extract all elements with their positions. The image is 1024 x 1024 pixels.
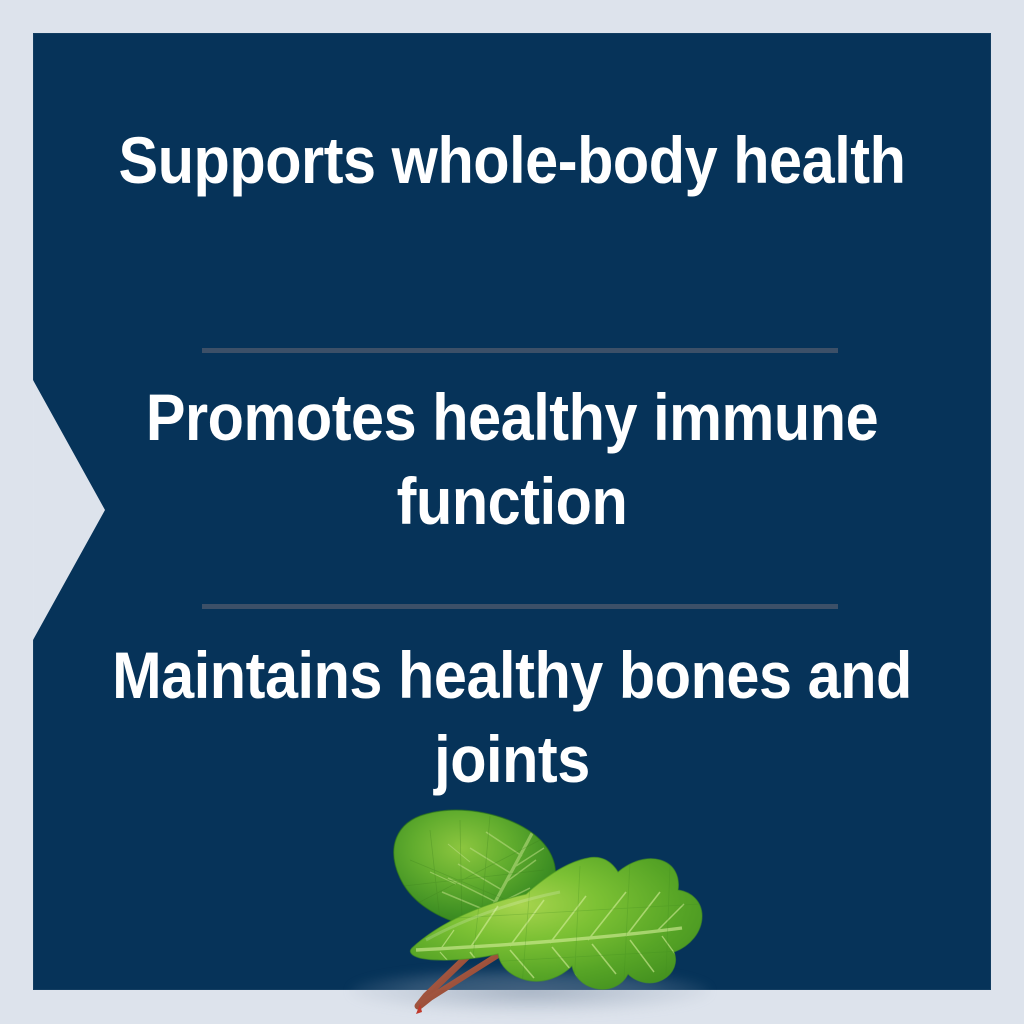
benefit-item-bones-and-joints: Maintains healthy bones and joints bbox=[81, 633, 943, 802]
benefit-divider-2 bbox=[202, 604, 838, 609]
leaves-svg bbox=[330, 800, 730, 1024]
benefits-card: Supports whole-body health Promotes heal… bbox=[0, 0, 1024, 1024]
benefit-item-immune-function: Promotes healthy immune function bbox=[81, 375, 943, 544]
benefit-item-whole-body-health: Supports whole-body health bbox=[81, 118, 943, 202]
green-leaves-illustration bbox=[330, 800, 730, 1024]
benefit-divider-1 bbox=[202, 348, 838, 353]
